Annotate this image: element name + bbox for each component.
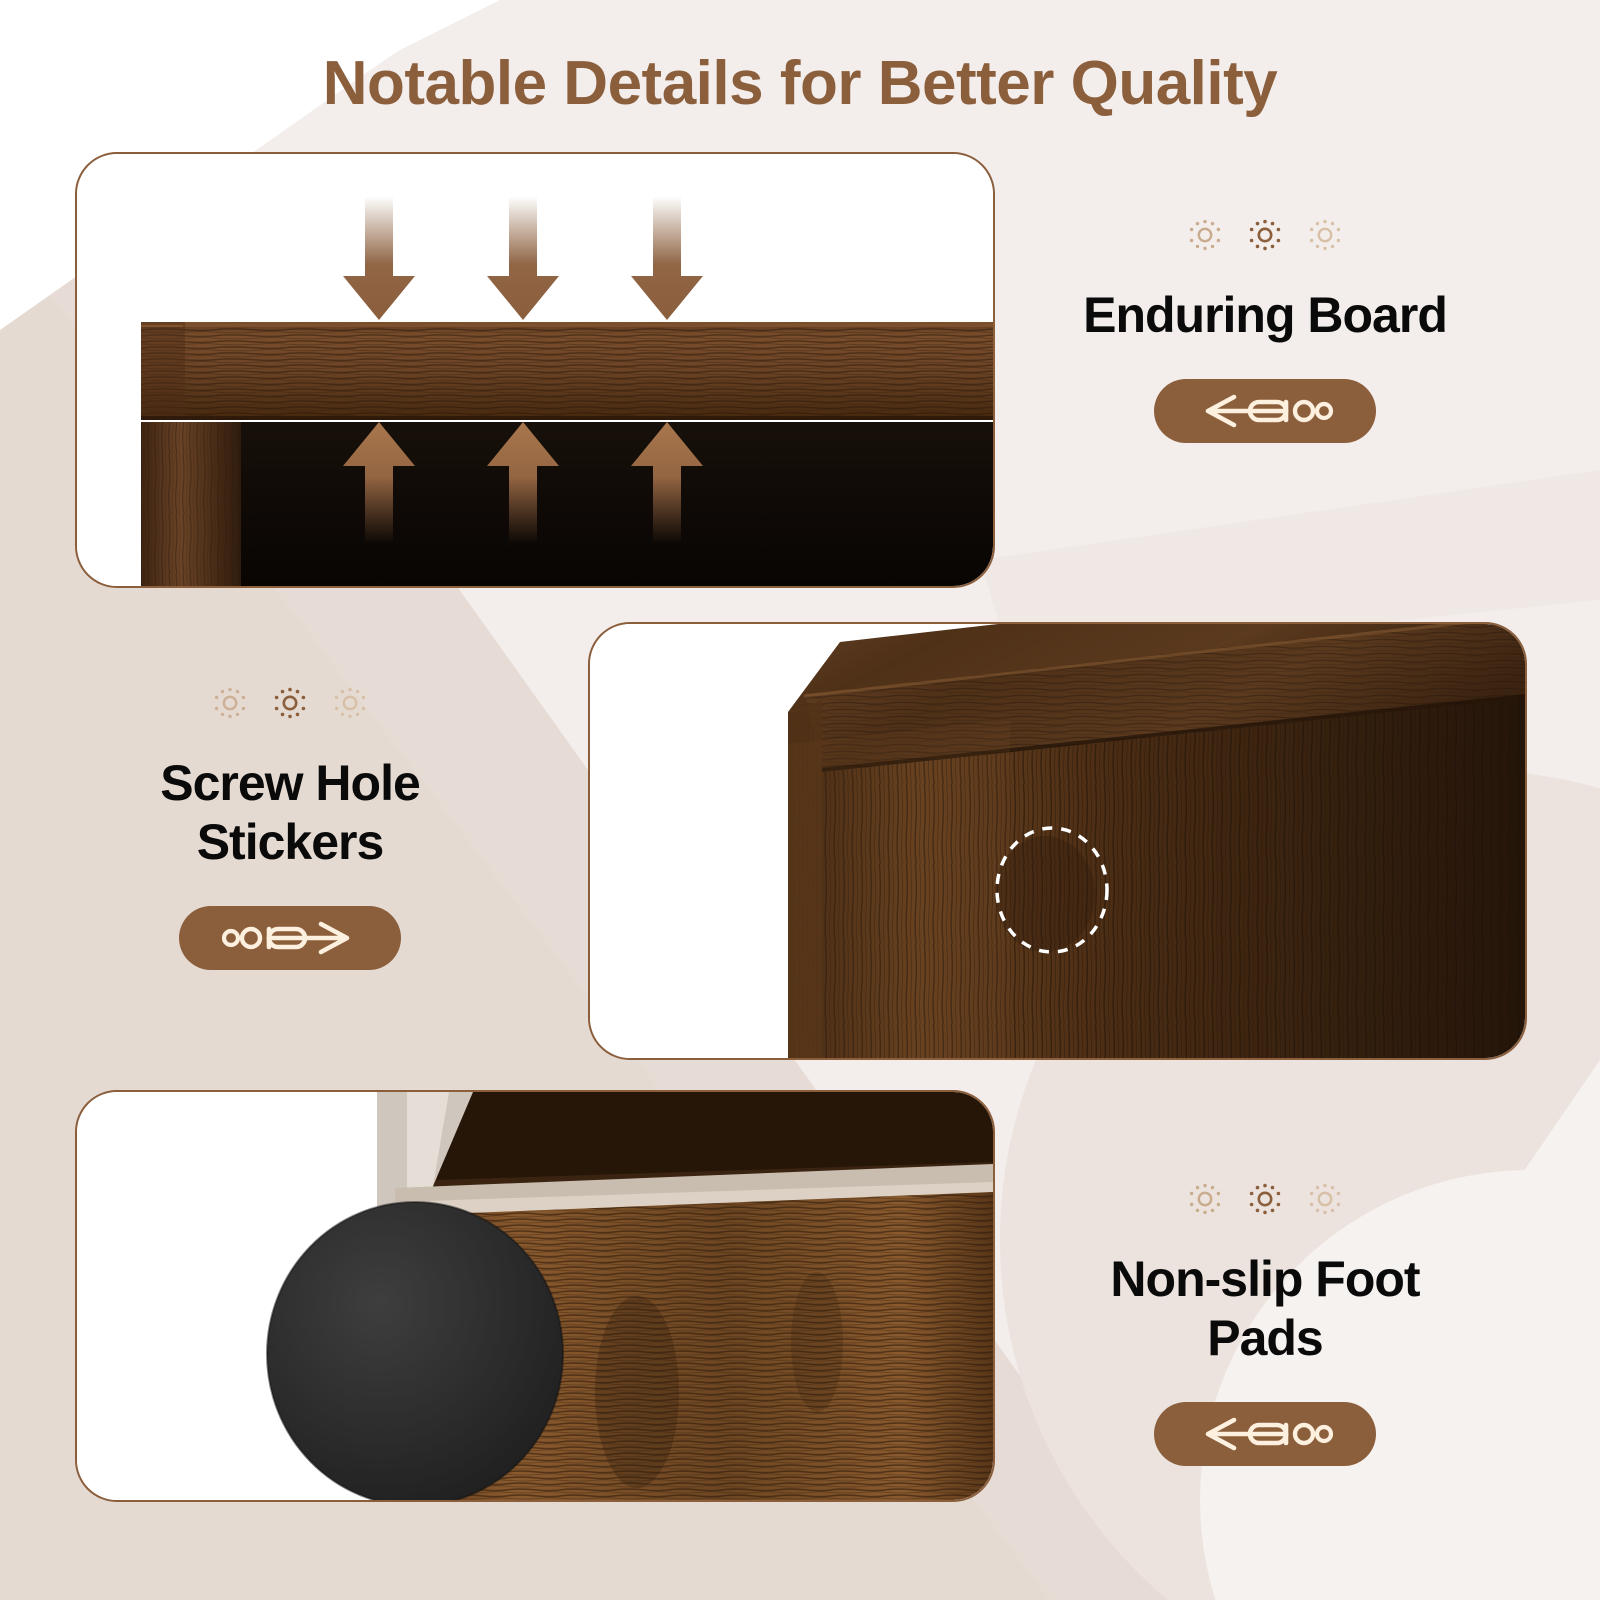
page-title: Notable Details for Better Quality	[0, 48, 1600, 119]
feature-label-line: Screw Hole	[35, 754, 545, 813]
feature-label-line: Non-slip Foot	[1010, 1250, 1520, 1309]
foot-pad-photo-card	[75, 1090, 995, 1502]
feature-label: Screw Hole Stickers	[35, 754, 545, 872]
sun-icon	[1248, 218, 1282, 252]
sun-icon	[1308, 218, 1342, 252]
sun-icon-group	[1010, 218, 1520, 252]
foot-pad-photo	[77, 1092, 993, 1500]
arrow-left-icon	[1190, 389, 1340, 433]
screw-hole-photo	[590, 624, 1525, 1058]
sun-icon-group	[1010, 1182, 1520, 1216]
feature-label-line: Stickers	[35, 813, 545, 872]
feature-enduring-board: Enduring Board	[1010, 218, 1520, 443]
screw-hole-photo-card	[588, 622, 1527, 1060]
sun-icon	[1248, 1182, 1282, 1216]
pointer-pill-left[interactable]	[1154, 379, 1376, 443]
feature-label: Enduring Board	[1010, 286, 1520, 345]
sun-icon	[1188, 218, 1222, 252]
sun-icon	[273, 686, 307, 720]
sun-icon-group	[35, 686, 545, 720]
sun-icon	[1308, 1182, 1342, 1216]
board-photo	[77, 154, 993, 586]
board-photo-card	[75, 152, 995, 588]
pointer-pill-right[interactable]	[179, 906, 401, 970]
sun-icon	[213, 686, 247, 720]
feature-screw-hole-stickers: Screw Hole Stickers	[35, 686, 545, 970]
screw-hole-sticker	[995, 836, 1095, 952]
pointer-pill-left[interactable]	[1154, 1402, 1376, 1466]
feature-label: Non-slip Foot Pads	[1010, 1250, 1520, 1368]
feature-non-slip-foot-pads: Non-slip Foot Pads	[1010, 1182, 1520, 1466]
feature-label-line: Pads	[1010, 1309, 1520, 1368]
arrow-right-icon	[215, 916, 365, 960]
sun-icon	[1188, 1182, 1222, 1216]
arrow-left-icon	[1190, 1412, 1340, 1456]
sun-icon	[333, 686, 367, 720]
